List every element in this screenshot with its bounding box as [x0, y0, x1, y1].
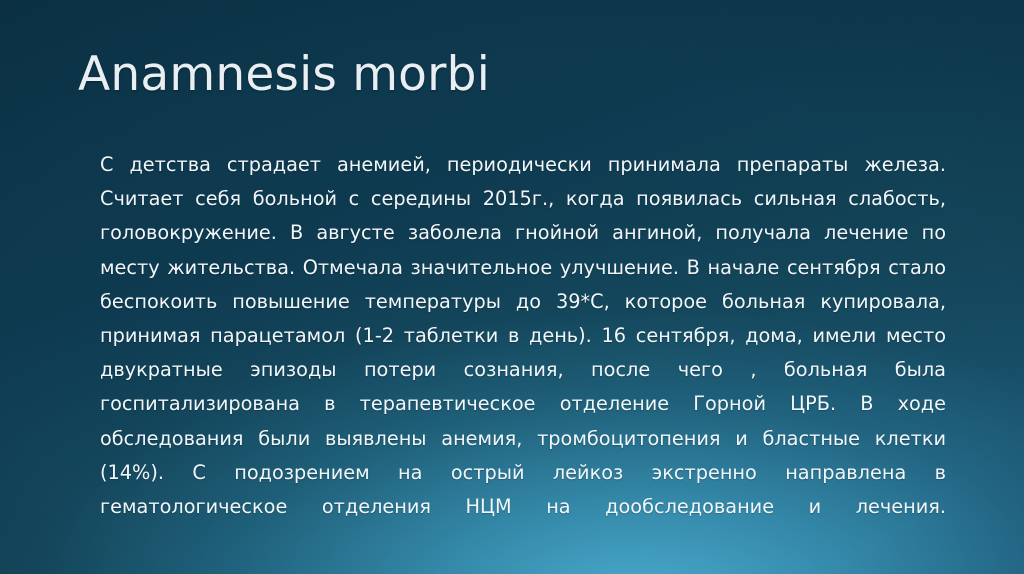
slide-body-text: С детства страдает анемией, периодически…	[100, 148, 946, 558]
slide-title: Anamnesis morbi	[78, 49, 490, 102]
presentation-slide: Anamnesis morbi С детства страдает анеми…	[0, 0, 1024, 574]
slide-content: Anamnesis morbi С детства страдает анеми…	[0, 0, 1024, 574]
